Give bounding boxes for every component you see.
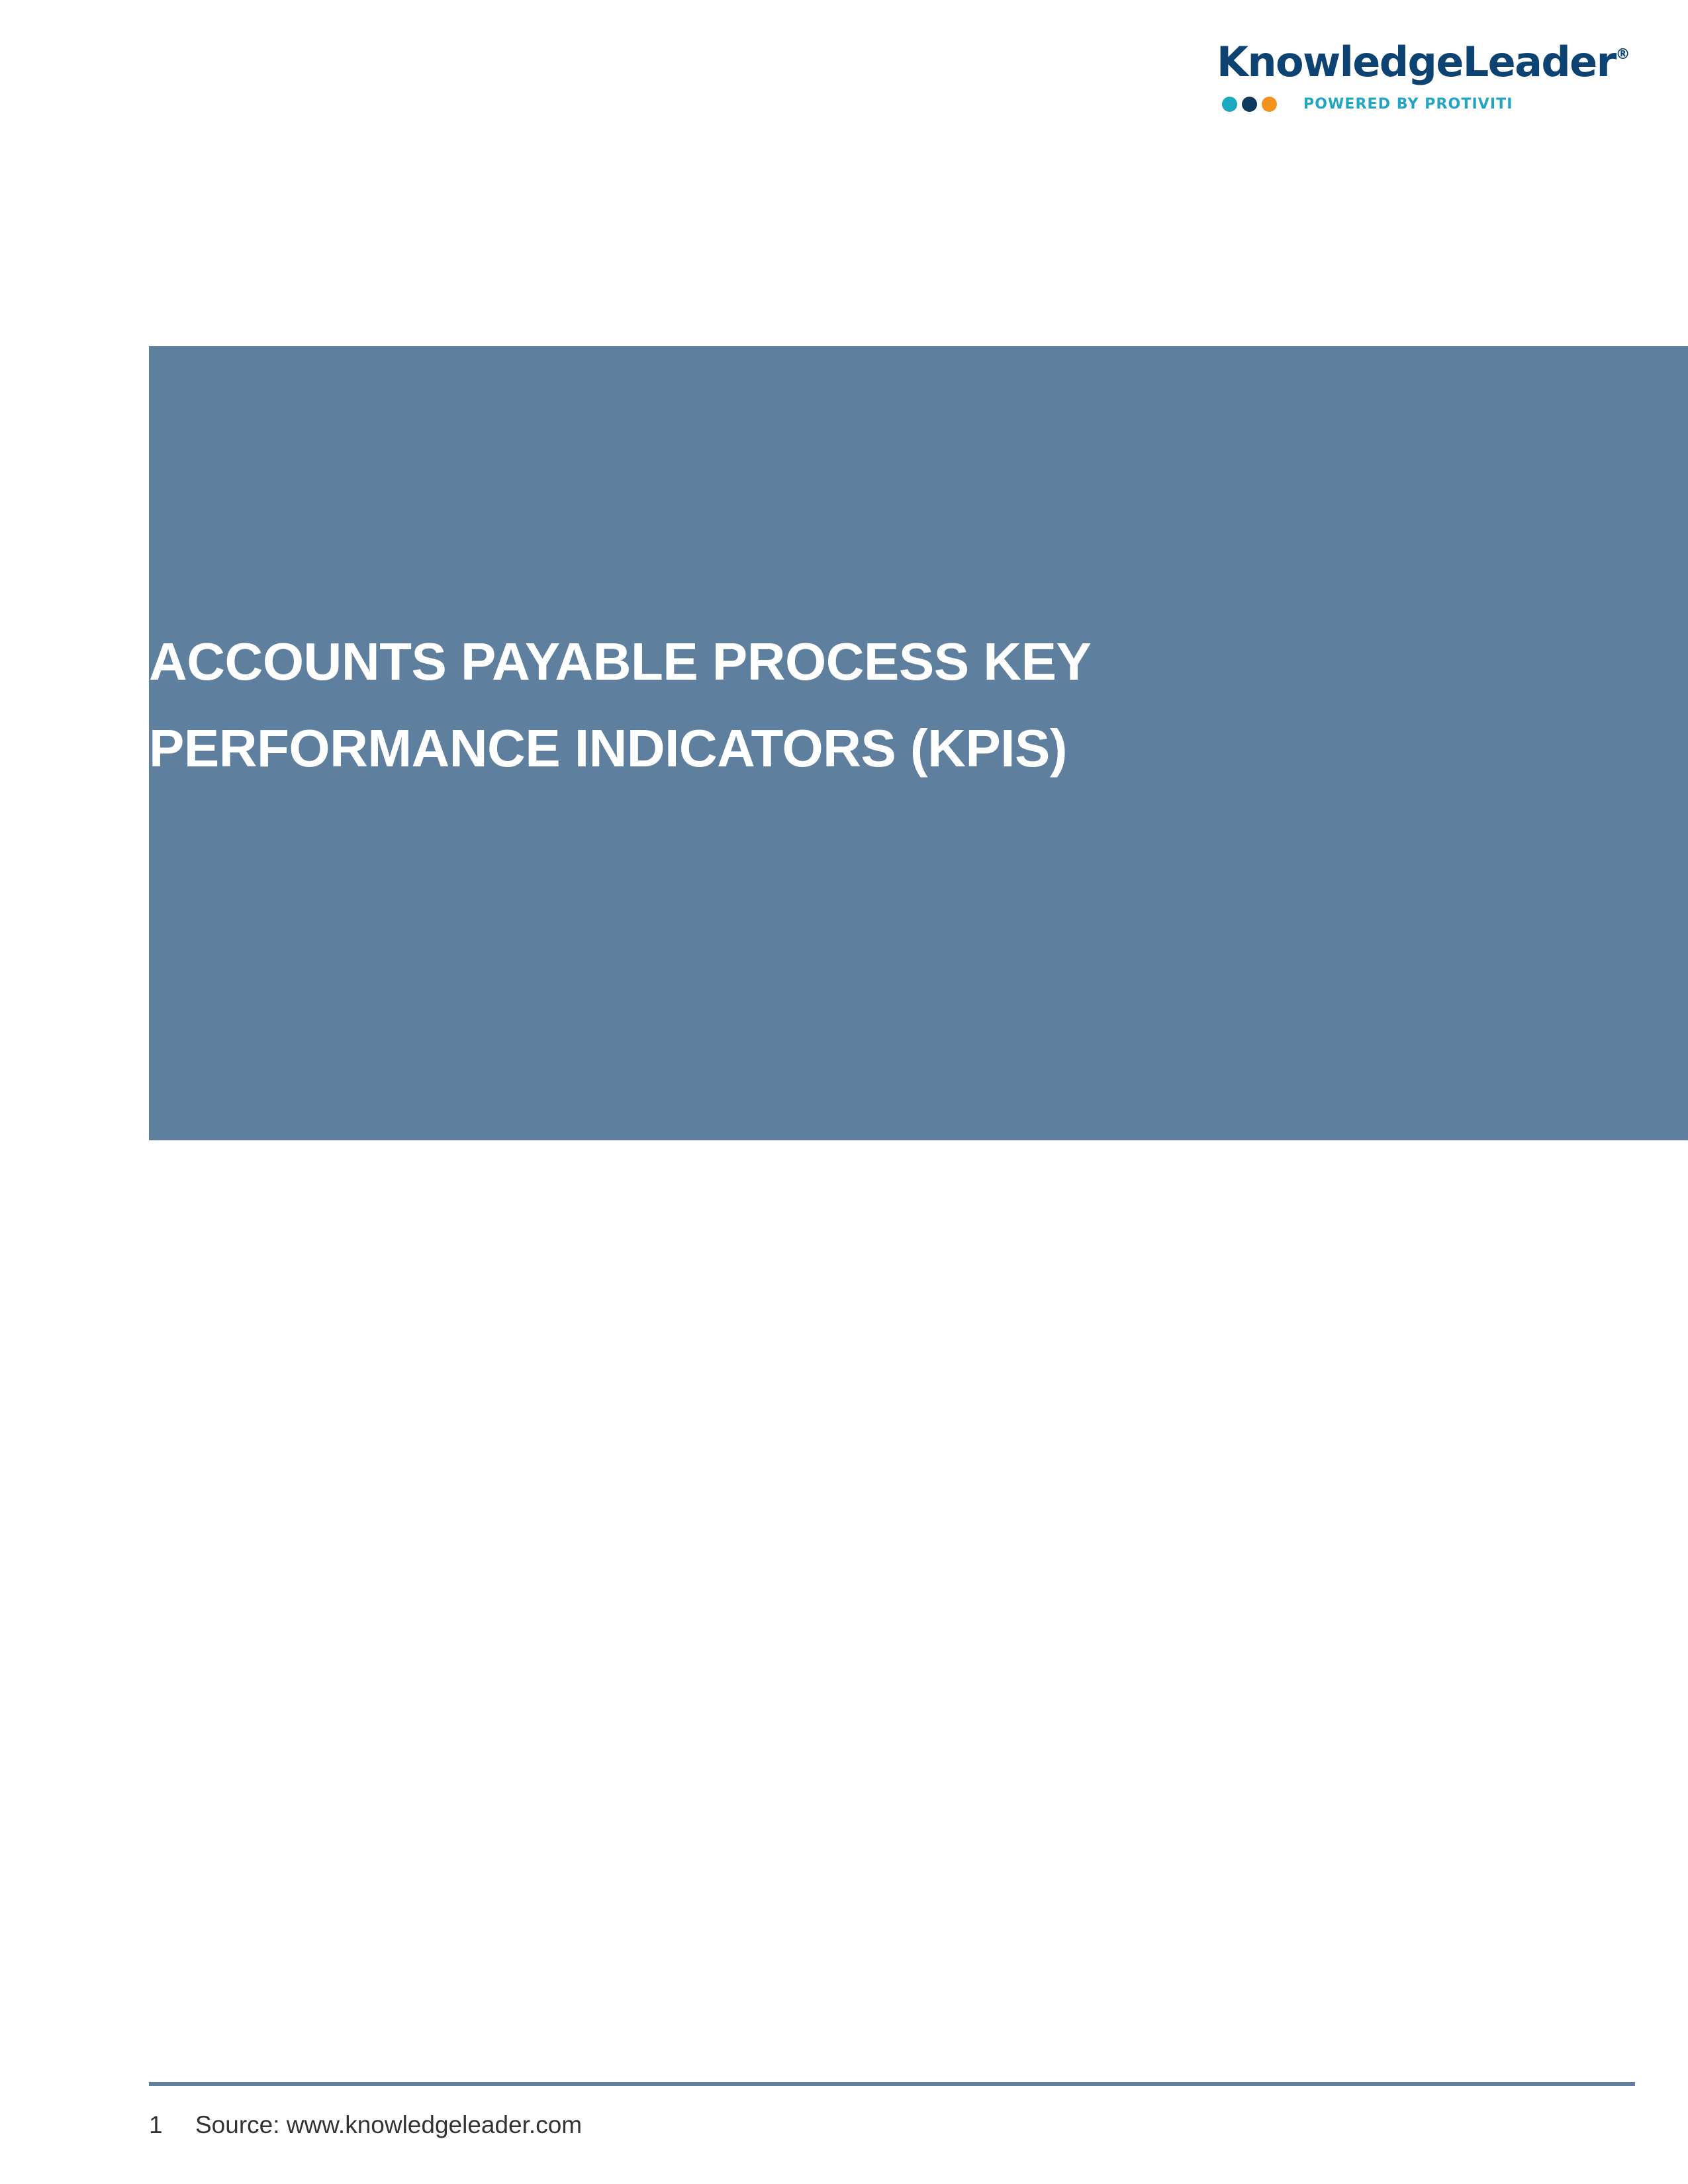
logo-tagline: POWERED BY PROTIVITI	[1303, 96, 1513, 113]
registered-trademark-icon: ®	[1616, 46, 1630, 63]
logo-wordmark-text: KnowledgeLeader	[1217, 38, 1616, 86]
footer-divider	[149, 2082, 1635, 2086]
teal-dot-icon	[1222, 97, 1237, 112]
logo-dots	[1222, 97, 1277, 112]
logo-wordmark: KnowledgeLeader®	[1217, 41, 1548, 83]
navy-dot-icon	[1242, 97, 1257, 112]
orange-dot-icon	[1262, 97, 1277, 112]
knowledgeleader-logo: KnowledgeLeader® POWERED BY PROTIVITI	[1217, 41, 1548, 113]
footer: 1 Source: www.knowledgeleader.com	[149, 2113, 1635, 2137]
logo-tagline-row: POWERED BY PROTIVITI	[1217, 96, 1548, 113]
page-title: ACCOUNTS PAYABLE PROCESS KEY PERFORMANCE…	[149, 618, 1380, 792]
footer-source: Source: www.knowledgeleader.com	[195, 2113, 582, 2137]
page-number: 1	[149, 2113, 195, 2137]
document-page: KnowledgeLeader® POWERED BY PROTIVITI AC…	[0, 0, 1688, 2184]
document-body	[149, 1140, 1635, 2067]
